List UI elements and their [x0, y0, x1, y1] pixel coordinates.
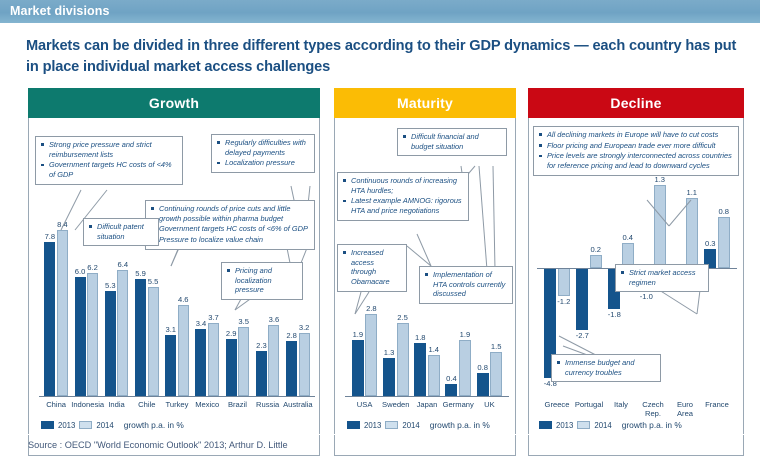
- callout-maturity-hta-controls: Implementation of HTA controls currently…: [419, 266, 513, 304]
- callout-maturity-hta: Continuous rounds of increasing HTA hurd…: [337, 172, 469, 221]
- panel-decline-header: Decline: [528, 88, 744, 118]
- callout-item: Continuous rounds of increasing HTA hurd…: [342, 176, 463, 195]
- callout-item: Difficult patent situation: [88, 222, 153, 241]
- callout-decline-strict-regimen: Strict market access regimen: [615, 264, 709, 292]
- callout-item: Difficult financial and budget situation: [402, 132, 501, 151]
- callout-item: Localization pressure: [216, 158, 309, 168]
- window-title: Market divisions: [10, 4, 110, 18]
- callout-item: Increased access through Obamacare: [342, 248, 401, 287]
- callout-decline-cut-costs: All declining markets in Europe will hav…: [533, 126, 739, 176]
- callout-item: Price levels are strongly interconnected…: [538, 151, 733, 170]
- callout-item: Pressure to localize value chain: [150, 235, 309, 245]
- panel-growth-body: Strong price pressure and strict reimbur…: [28, 118, 320, 456]
- callout-item: Regularly difficulties with delayed paym…: [216, 138, 309, 157]
- callout-growth-price-pressure: Strong price pressure and strict reimbur…: [35, 136, 183, 185]
- callout-item: Floor pricing and European trade ever mo…: [538, 141, 733, 151]
- window-title-bar: Market divisions: [0, 0, 760, 25]
- callout-item: Government targets HC costs of <4% of GD…: [40, 160, 177, 179]
- panel-growth-header: Growth: [28, 88, 320, 118]
- page-title: Markets can be divided in three differen…: [26, 36, 741, 77]
- panel-decline-body: All declining markets in Europe will hav…: [528, 118, 744, 456]
- panel-maturity-header: Maturity: [334, 88, 516, 118]
- callout-item: Implementation of HTA controls currently…: [424, 270, 507, 299]
- callout-item: Pricing and localization pressure: [226, 266, 297, 295]
- callout-item: Strong price pressure and strict reimbur…: [40, 140, 177, 159]
- callout-maturity-obamacare: Increased access through Obamacare: [337, 244, 407, 292]
- callout-item: All declining markets in Europe will hav…: [538, 130, 733, 140]
- callout-item: Immense budget and currency troubles: [556, 358, 655, 377]
- callout-item: Continuing rounds of price cuts and litt…: [150, 204, 309, 223]
- callout-growth-price-cuts: Continuing rounds of price cuts and litt…: [145, 200, 315, 250]
- callout-item: Latest example AMNOG: rigorous HTA and p…: [342, 196, 463, 215]
- callout-item: Strict market access regimen: [620, 268, 703, 287]
- callout-growth-delayed-payments: Regularly difficulties with delayed paym…: [211, 134, 315, 173]
- panel-growth: Growth Strong price pressure and: [28, 88, 320, 456]
- panel-decline: Decline All declining markets in Europe …: [528, 88, 744, 456]
- callout-maturity-budget: Difficult financial and budget situation: [397, 128, 507, 156]
- callout-growth-patent: Difficult patent situation: [83, 218, 159, 246]
- callout-decline-budget-troubles: Immense budget and currency troubles: [551, 354, 661, 382]
- callout-growth-pricing-localization: Pricing and localization pressure: [221, 262, 303, 300]
- slide-root: Market divisions Markets can be divided …: [0, 0, 760, 461]
- panel-maturity: Maturity Difficult financial and budget …: [334, 88, 516, 456]
- callout-item: Government targets HC costs of <6% of GD…: [150, 224, 309, 234]
- panel-maturity-body: Difficult financial and budget situation…: [334, 118, 516, 456]
